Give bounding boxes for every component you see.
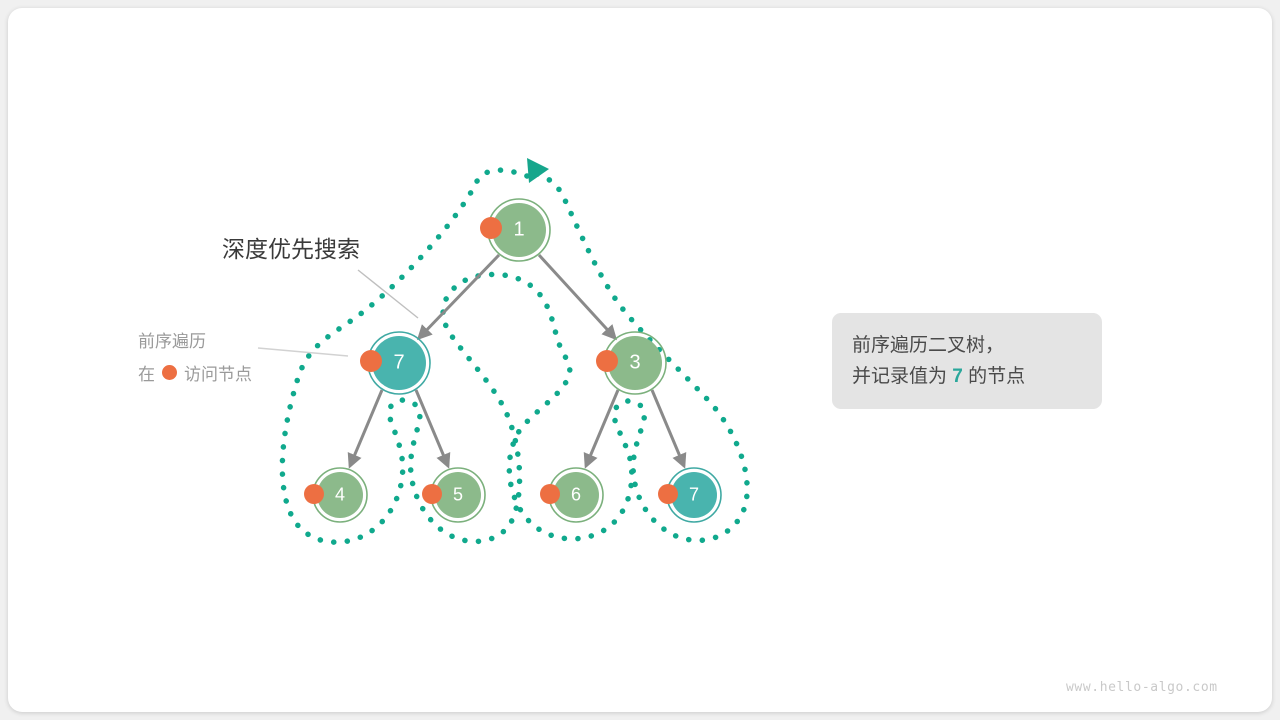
edge-1-7 bbox=[419, 255, 499, 338]
info-box-line-2: 并记录值为 7 的节点 bbox=[852, 361, 1082, 392]
visit-dot-node-5 bbox=[422, 484, 442, 504]
diagram-stage: 1 7 3 4 5 6 7 深度优先搜索 前序遍历 在 访问节点 前序遍历二叉树… bbox=[8, 8, 1272, 712]
legend-preorder-label: 前序遍历 bbox=[138, 327, 206, 352]
info-box-line-1: 前序遍历二叉树， bbox=[852, 330, 1082, 361]
legend-visit-suffix: 访问节点 bbox=[184, 360, 252, 385]
visit-dot-node-7-left bbox=[360, 350, 382, 372]
edge-7-4 bbox=[350, 390, 382, 466]
diagram-title: 深度优先搜索 bbox=[222, 230, 360, 264]
legend-visit-prefix: 在 bbox=[138, 360, 155, 385]
title-leader-line bbox=[358, 270, 418, 318]
legend-line-visit: 在 访问节点 bbox=[138, 360, 252, 385]
info-box-line2-prefix: 并记录值为 bbox=[852, 366, 947, 387]
edge-7-5 bbox=[416, 390, 448, 466]
visit-dot-node-3 bbox=[596, 350, 618, 372]
legend-line-preorder: 前序遍历 bbox=[138, 327, 206, 352]
watermark: www.hello-algo.com bbox=[1066, 680, 1218, 695]
visit-dot-node-6 bbox=[540, 484, 560, 504]
diagram-card: 1 7 3 4 5 6 7 深度优先搜索 前序遍历 在 访问节点 前序遍历二叉树… bbox=[8, 8, 1272, 712]
info-box-target-value: 7 bbox=[952, 366, 963, 387]
info-box-line2-suffix: 的节点 bbox=[968, 366, 1025, 387]
edge-3-7b bbox=[652, 390, 684, 466]
visit-dot-node-1 bbox=[480, 217, 502, 239]
visit-dot-node-7-right bbox=[658, 484, 678, 504]
legend-leader-line bbox=[258, 348, 348, 356]
edge-1-3 bbox=[539, 255, 615, 338]
visit-dot-node-4 bbox=[304, 484, 324, 504]
edge-3-6 bbox=[586, 390, 618, 466]
visit-dot-icon bbox=[162, 365, 177, 380]
info-box: 前序遍历二叉树， 并记录值为 7 的节点 bbox=[832, 313, 1102, 409]
